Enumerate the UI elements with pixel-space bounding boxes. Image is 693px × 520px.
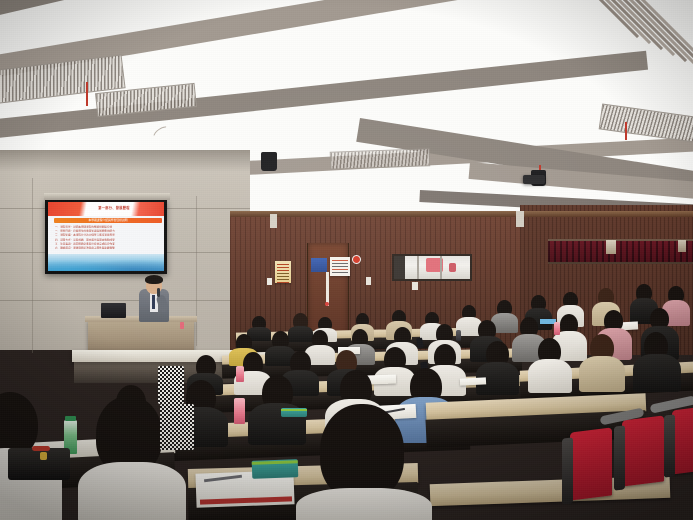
wall-speaker (270, 214, 277, 228)
light-switch[interactable] (366, 277, 371, 285)
bag-strap (32, 446, 50, 451)
bottle-cap (65, 416, 76, 421)
slide-bullet: 五、注意事項：請同學務必準時出席並完成指定作業 (55, 242, 115, 245)
pencil-case-teal (281, 408, 307, 417)
presentation-slide: 第一部分、發展歷程 本學期課程介紹與學習目標說明 一、課程背景：說明本學期課程的… (48, 202, 164, 271)
slide-bullet: 三、課程架構：本課程共分為六個單元循序漸進學習 (55, 233, 115, 236)
door-push-strip (326, 272, 329, 306)
student-body (288, 326, 313, 342)
pencil-case-teal (252, 459, 299, 479)
slide-title: 第一部分、發展歷程 (84, 205, 144, 210)
light-switch[interactable] (412, 282, 418, 290)
screen-roller-casing (44, 193, 170, 200)
red-curtains (548, 239, 693, 264)
laptop (101, 303, 126, 318)
water-bottle-pink (234, 398, 245, 424)
lecture-hall-photo: 第一部分、發展歷程 本學期課程介紹與學習目標說明 一、課程背景：說明本學期課程的… (0, 0, 693, 520)
wall-seam (32, 178, 33, 353)
speaker-hair (145, 275, 163, 284)
water-bottle-pink (236, 366, 244, 382)
microphone (157, 288, 160, 297)
tote-checkered (158, 366, 184, 404)
wall-speaker-right (516, 211, 524, 227)
water-bottle-dark (456, 330, 461, 341)
projection-screen: 第一部分、發展歷程 本學期課程介紹與學習目標說明 一、課程背景：說明本學期課程的… (45, 199, 167, 274)
wall-shadow-band (0, 150, 250, 172)
student-body-foreground (78, 462, 186, 520)
seat-arm (562, 437, 573, 504)
paper-sheet (460, 377, 486, 385)
student-body (528, 359, 572, 393)
backpack-black (8, 448, 70, 480)
projector-right (523, 175, 545, 184)
auditorium-seat[interactable] (672, 406, 693, 475)
notice-yellow (275, 261, 291, 283)
slide-bullet: 一、課程背景：說明本學期課程的整體規劃與安排 (55, 225, 112, 228)
sprinkler-drop (86, 82, 88, 106)
door-handle[interactable] (325, 302, 329, 306)
curtain-gap-light (678, 240, 686, 252)
student-head-foreground (320, 404, 404, 500)
no-smoking-sign (352, 255, 361, 264)
slide-bullet: 二、學習目標：培養學生的專業知識與實務應用能力 (55, 229, 115, 232)
wall-top-trim (230, 211, 693, 217)
ceiling-speaker (261, 152, 277, 171)
light-switch[interactable] (267, 278, 272, 285)
notice-white (330, 257, 350, 276)
auditorium-seat[interactable] (622, 415, 664, 486)
tote-checkered (160, 404, 194, 450)
curtain-gap-light (606, 240, 616, 254)
lectern (88, 320, 194, 354)
speaker-tie (152, 295, 155, 309)
student-body (633, 354, 681, 392)
slide-bullet: 四、評量方式：平時成績、期中報告與期末專題成果 (55, 238, 115, 241)
bag-charm (40, 452, 47, 460)
auditorium-seat[interactable] (570, 427, 612, 500)
seat-arm (614, 425, 625, 490)
wall-seam (0, 300, 235, 301)
seat-arm (664, 414, 675, 477)
student-body (579, 356, 625, 392)
water-bottle-pink (554, 322, 560, 335)
wall-seam (196, 196, 197, 346)
clerestory-window (392, 254, 472, 281)
slide-wave-graphic (48, 254, 164, 271)
air-vent-grille-center (330, 148, 431, 169)
sprinkler-drop (625, 122, 627, 140)
slide-banner: 本學期課程介紹與學習目標說明 (54, 218, 162, 223)
student-body-foreground (296, 488, 432, 520)
slide-bullet: 六、聯絡資訊：課後問題可透過電子郵件與助教聯繫 (55, 246, 115, 249)
drink-cup (180, 322, 184, 329)
notice-blue (311, 258, 327, 272)
